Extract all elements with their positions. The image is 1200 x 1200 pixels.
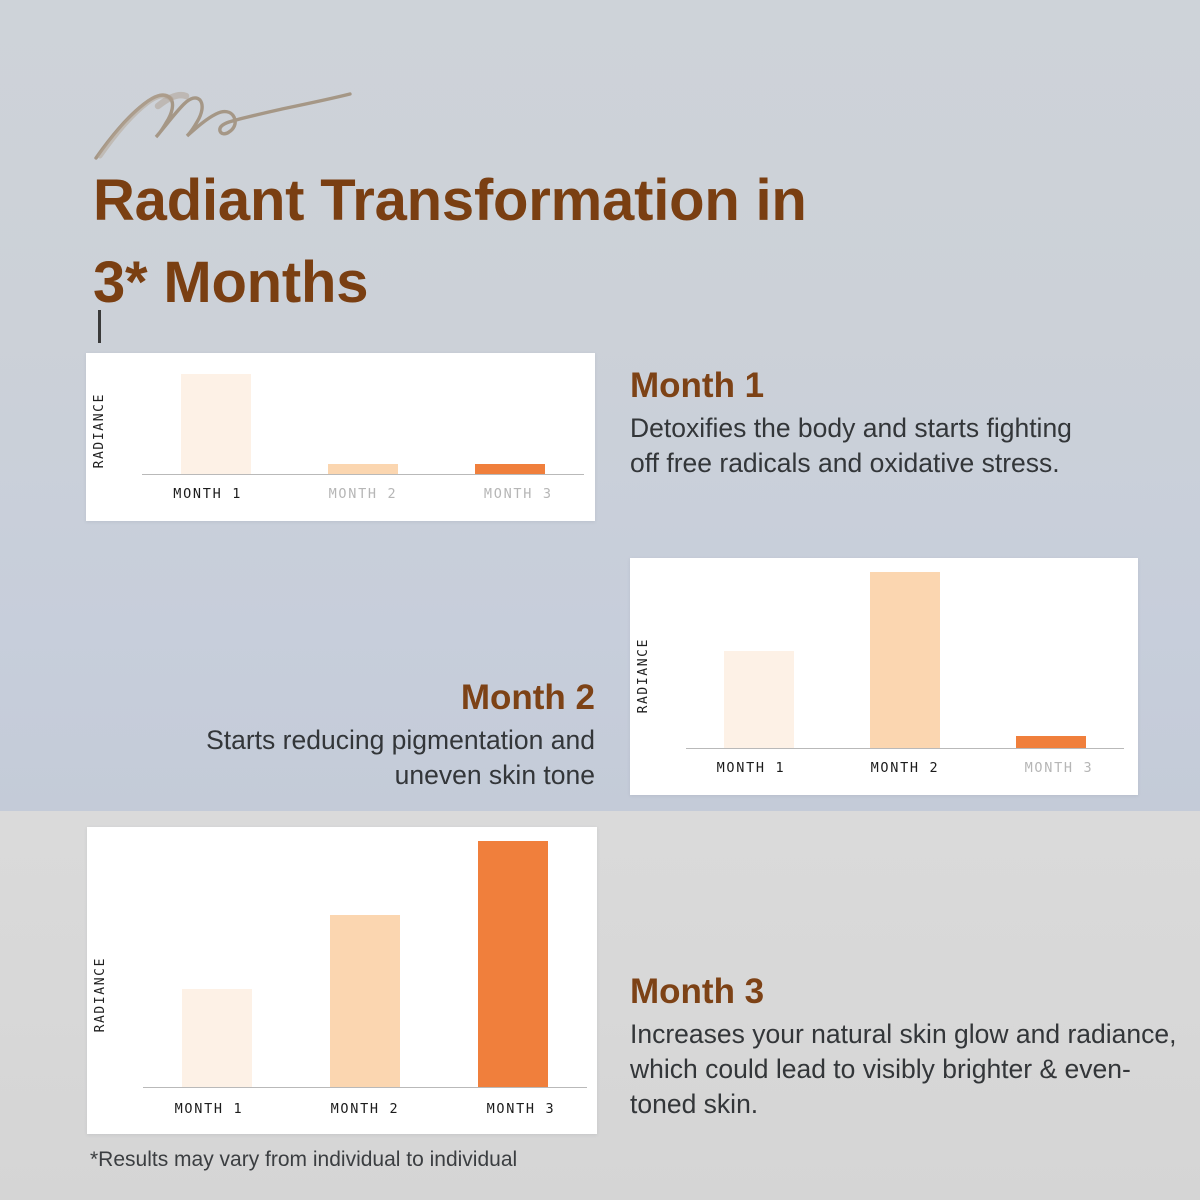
block-title: Month 2 (130, 678, 595, 718)
bar-slot (978, 572, 1124, 748)
footnote-disclaimer: *Results may vary from individual to ind… (90, 1148, 517, 1172)
bar-slot (291, 841, 439, 1087)
chart-card-month-1: RADIANCE MONTH 1 MONTH 2 MONTH 3 (86, 353, 595, 521)
chart-bars (143, 841, 587, 1087)
bar-chart-month-3: RADIANCE MONTH 1 MONTH 2 MONTH 3 (87, 827, 597, 1134)
x-tick-label: MONTH 3 (441, 486, 596, 502)
brush-squiggle-icon (92, 66, 392, 162)
bar-slot (437, 374, 584, 474)
x-tick-label: MONTH 2 (287, 1101, 443, 1117)
chart-x-axis-line (686, 748, 1124, 749)
chart-x-axis-line (143, 1087, 587, 1088)
bar-month-1 (181, 374, 251, 474)
x-tick-label: MONTH 1 (674, 760, 828, 776)
chart-x-tick-labels: MONTH 1 MONTH 2 MONTH 3 (674, 760, 1136, 776)
bar-month-1 (182, 989, 252, 1087)
bar-slot (142, 374, 289, 474)
title-vertical-rule (98, 310, 101, 343)
bar-chart-month-1: RADIANCE MONTH 1 MONTH 2 MONTH 3 (86, 353, 595, 521)
x-tick-label: MONTH 3 (982, 760, 1136, 776)
chart-y-axis-label: RADIANCE (92, 393, 107, 468)
chart-x-axis-line (142, 474, 584, 475)
bar-month-1 (724, 651, 794, 748)
block-body: Increases your natural skin glow and rad… (630, 1017, 1190, 1121)
description-block-month-1: Month 1 Detoxifies the body and starts f… (630, 366, 1100, 481)
block-body: Starts reducing pigmentation and uneven … (130, 723, 595, 792)
x-tick-label: MONTH 1 (130, 486, 285, 502)
x-tick-label: MONTH 3 (443, 1101, 599, 1117)
bar-slot (686, 572, 832, 748)
bar-month-2 (328, 464, 398, 474)
bar-month-3 (1016, 736, 1086, 748)
x-tick-label: MONTH 2 (828, 760, 982, 776)
block-title: Month 3 (630, 972, 1190, 1012)
x-tick-label: MONTH 2 (285, 486, 440, 502)
page-title-line-2: 3* Months (93, 242, 953, 324)
bar-slot (289, 374, 436, 474)
chart-bars (142, 374, 584, 474)
bar-month-2 (330, 915, 400, 1087)
page-title-line-1: Radiant Transformation in (93, 160, 953, 242)
block-body: Detoxifies the body and starts fighting … (630, 411, 1100, 480)
chart-bars (686, 572, 1124, 748)
chart-card-month-2: RADIANCE MONTH 1 MONTH 2 MONTH 3 (630, 558, 1138, 795)
x-tick-label: MONTH 1 (131, 1101, 287, 1117)
bar-month-2 (870, 572, 940, 748)
chart-card-month-3: RADIANCE MONTH 1 MONTH 2 MONTH 3 (87, 827, 597, 1134)
bar-slot (832, 572, 978, 748)
description-block-month-2: Month 2 Starts reducing pigmentation and… (130, 678, 595, 793)
page-title: Radiant Transformation in 3* Months (93, 160, 953, 325)
bar-month-3 (478, 841, 548, 1087)
bar-month-3 (475, 464, 545, 474)
block-title: Month 1 (630, 366, 1100, 406)
bar-chart-month-2: RADIANCE MONTH 1 MONTH 2 MONTH 3 (630, 558, 1138, 795)
chart-y-axis-label: RADIANCE (93, 957, 108, 1032)
description-block-month-3: Month 3 Increases your natural skin glow… (630, 972, 1190, 1121)
chart-x-tick-labels: MONTH 1 MONTH 2 MONTH 3 (131, 1101, 599, 1117)
bar-slot (439, 841, 587, 1087)
bar-slot (143, 841, 291, 1087)
chart-y-axis-label: RADIANCE (636, 638, 651, 713)
chart-x-tick-labels: MONTH 1 MONTH 2 MONTH 3 (130, 486, 596, 502)
